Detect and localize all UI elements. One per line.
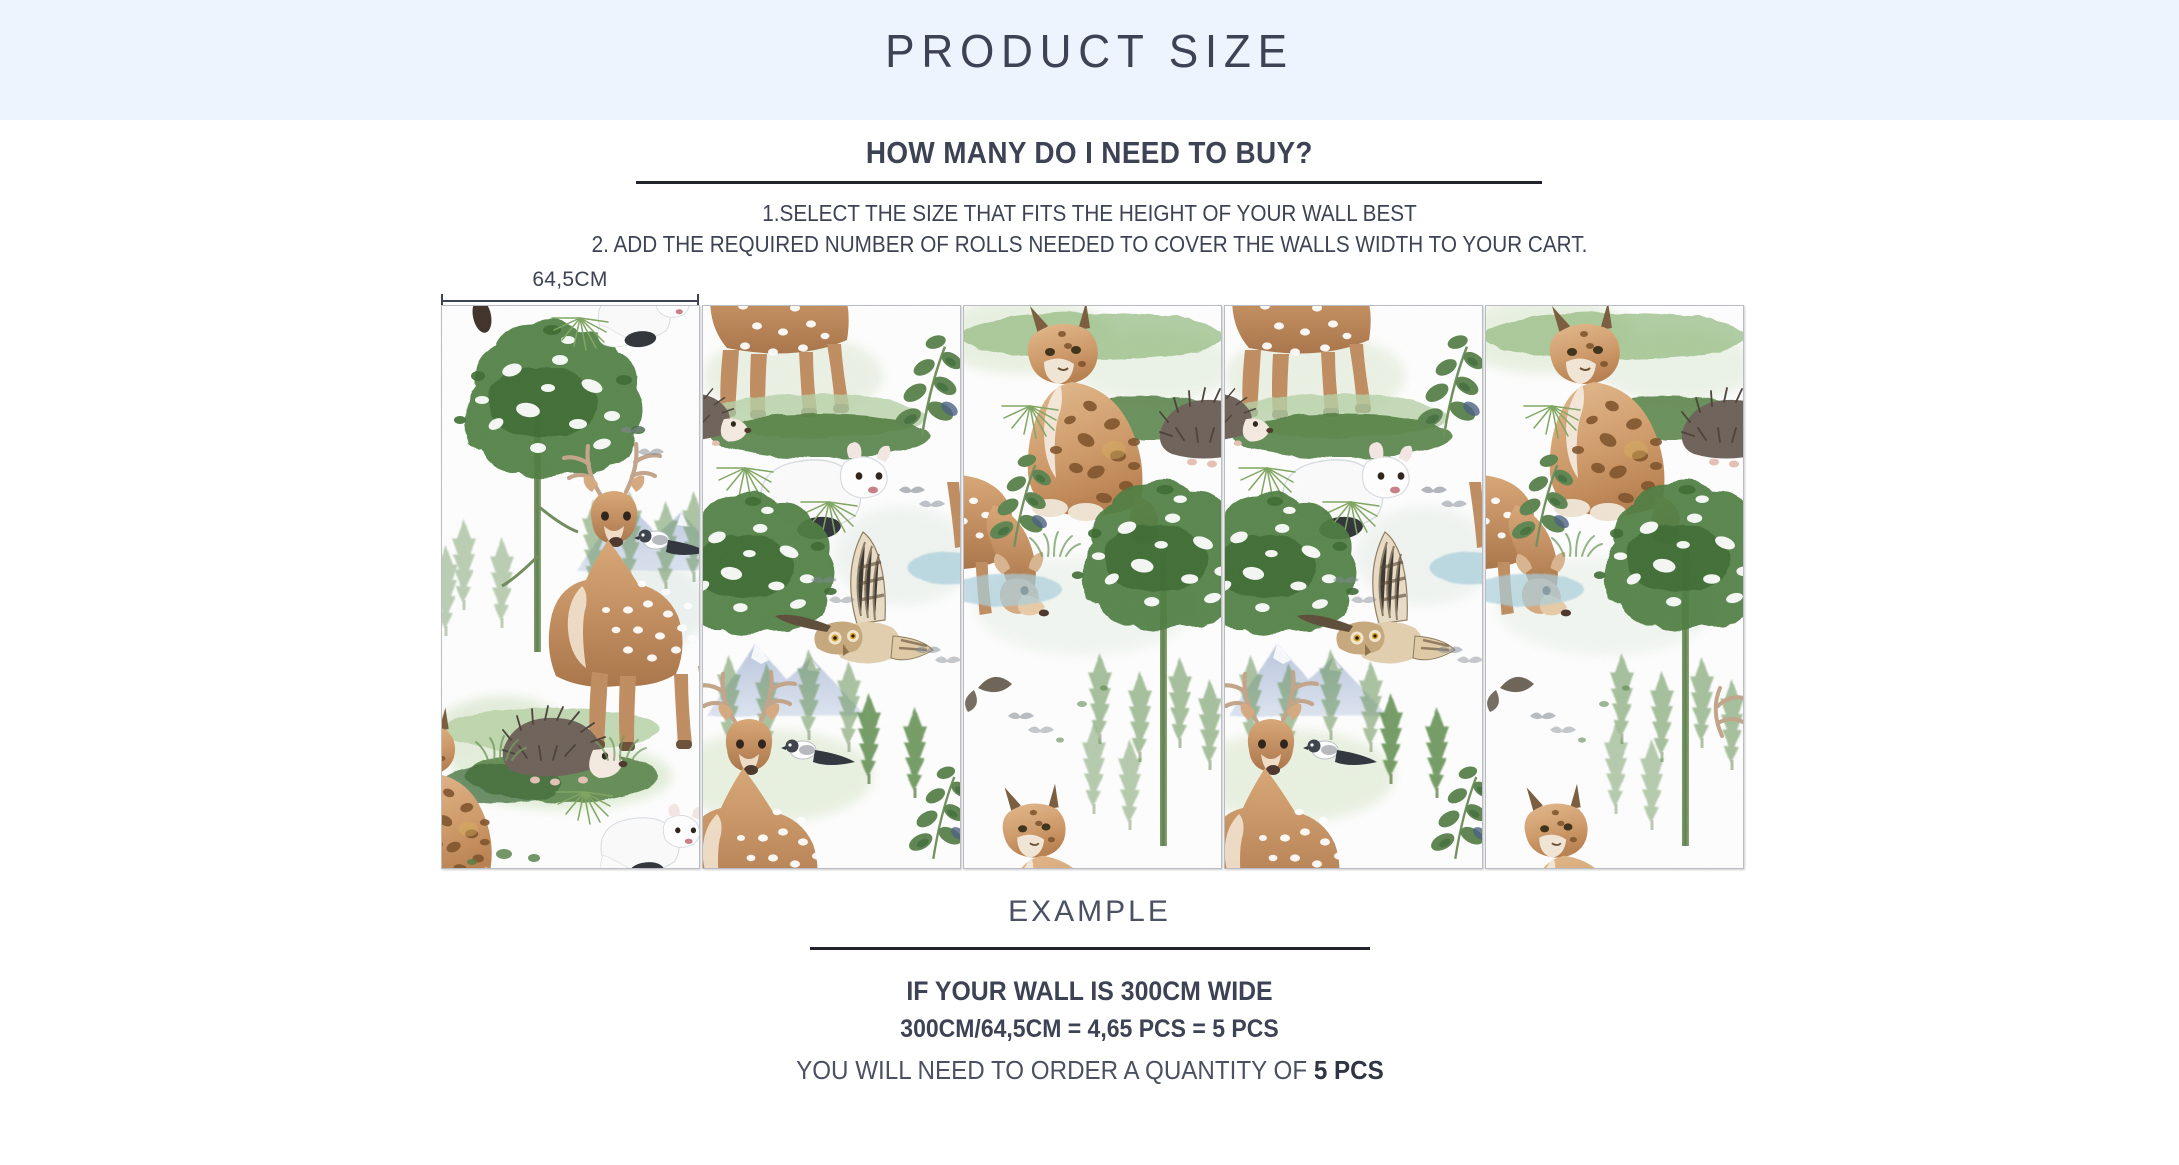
wallpaper-panel-strip: [441, 305, 1741, 869]
intro-step-2: 2. ADD THE REQUIRED NUMBER OF ROLLS NEED…: [109, 229, 2070, 260]
example-calculation: IF YOUR WALL IS 300CM WIDE 300CM/64,5CM …: [0, 972, 2179, 1048]
wallpaper-panel-5[interactable]: [1485, 305, 1744, 869]
example-order-quantity: YOU WILL NEED TO ORDER A QUANTITY OF 5 P…: [0, 1055, 2179, 1086]
panel-artwork-1: [442, 306, 699, 868]
example-heading: EXAMPLE: [0, 895, 2179, 929]
divider-example: [810, 947, 1370, 950]
panel-artwork-3: [964, 306, 1221, 868]
example-order-pcs: 5 PCS: [1313, 1055, 1383, 1085]
intro-step-1: 1.SELECT THE SIZE THAT FITS THE HEIGHT O…: [109, 198, 2070, 229]
wallpaper-panel-1[interactable]: [441, 305, 700, 869]
wallpaper-panel-2[interactable]: [702, 305, 961, 869]
panel-artwork-5: [1486, 306, 1743, 868]
wallpaper-panel-3[interactable]: [963, 305, 1222, 869]
page-title: PRODUCT SIZE: [44, 24, 2136, 78]
intro-section: HOW MANY DO I NEED TO BUY?: [0, 135, 2179, 171]
example-formula: 300CM/64,5CM = 4,65 PCS = 5 PCS: [87, 1010, 2092, 1048]
example-wall-width: IF YOUR WALL IS 300CM WIDE: [87, 972, 2092, 1010]
dimension-label: 64,5CM: [441, 268, 699, 292]
dimension-bar: [441, 300, 699, 302]
panel-artwork-4: [1225, 306, 1482, 868]
wallpaper-panel-4[interactable]: [1224, 305, 1483, 869]
example-order-prefix: YOU WILL NEED TO ORDER A QUANTITY OF: [796, 1055, 1314, 1085]
divider-top: [636, 181, 1542, 184]
intro-heading: HOW MANY DO I NEED TO BUY?: [866, 135, 1313, 171]
panel-artwork-2: [703, 306, 960, 868]
intro-steps: 1.SELECT THE SIZE THAT FITS THE HEIGHT O…: [0, 198, 2179, 260]
